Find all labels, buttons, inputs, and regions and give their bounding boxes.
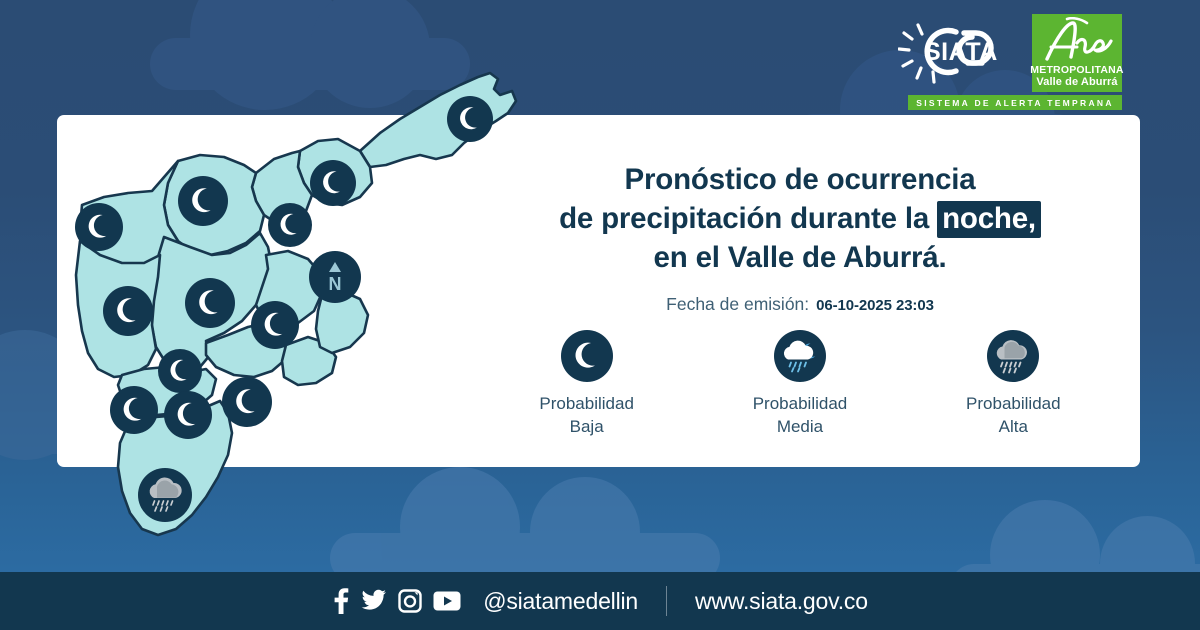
logo-row: SIATA METROPOLITANA Valle de Aburrá	[898, 14, 1122, 92]
moon-icon	[164, 391, 212, 439]
emission-date-value: 06-10-2025 23:03	[816, 297, 934, 314]
forecast-text-block: Pronóstico de ocurrencia de precipitació…	[470, 160, 1130, 315]
cloud-moon-rain-icon	[774, 330, 826, 382]
siata-logo: SIATA	[898, 17, 1022, 89]
moon-icon	[251, 301, 299, 349]
map-marker-moon-sabaneta[interactable]	[164, 391, 212, 439]
emission-date-label: Fecha de emisión:	[666, 294, 809, 315]
footer-bar: @siatamedellin www.siata.gov.co	[0, 572, 1200, 630]
moon-icon	[447, 96, 493, 142]
alerta-temprana-text: SISTEMA DE ALERTA TEMPRANA	[916, 98, 1114, 108]
moon-icon	[178, 176, 228, 226]
map-marker-rain-caldas[interactable]	[138, 468, 192, 522]
alerta-temprana-banner: SISTEMA DE ALERTA TEMPRANA	[908, 95, 1122, 110]
moon-icon	[268, 203, 312, 247]
map-marker-moon-copacabana[interactable]	[268, 203, 312, 247]
website-url[interactable]: www.siata.gov.co	[695, 588, 868, 615]
cloud-heavy-rain-icon	[138, 468, 192, 522]
title-line-3: en el Valle de Aburrá.	[470, 238, 1130, 277]
page-title: Pronóstico de ocurrencia de precipitació…	[470, 160, 1130, 278]
instagram-icon[interactable]	[398, 589, 422, 613]
social-links	[332, 587, 461, 615]
title-highlight-noche: noche,	[937, 201, 1041, 238]
title-line-2-text: de precipitación durante la	[559, 202, 929, 235]
legend-label-media-line1: Probabilidad	[753, 393, 848, 416]
legend-item-media[interactable]: Probabilidad Media	[715, 330, 885, 439]
map-marker-moon-medellin[interactable]	[185, 278, 235, 328]
footer-divider	[666, 586, 667, 616]
youtube-icon[interactable]	[433, 591, 461, 611]
siata-wordmark: SIATA	[924, 38, 998, 67]
map-marker-moon-la-estrella[interactable]	[110, 386, 158, 434]
legend-label-baja: Probabilidad Baja	[539, 393, 634, 439]
social-handle[interactable]: @siatamedellin	[483, 588, 638, 615]
legend-icon-baja	[561, 330, 613, 382]
legend-label-media-line2: Media	[753, 416, 848, 439]
area-metropolitana-logo: METROPOLITANA Valle de Aburrá	[1032, 14, 1122, 92]
map-marker-moon-envigado[interactable]	[251, 301, 299, 349]
legend-label-alta-line2: Alta	[966, 416, 1061, 439]
legend-item-baja[interactable]: Probabilidad Baja	[502, 330, 672, 439]
moon-icon	[103, 286, 153, 336]
legend-label-media: Probabilidad Media	[753, 393, 848, 439]
moon-icon	[158, 349, 202, 393]
infographic-canvas: SIATA METROPOLITANA Valle de Aburrá SIST…	[0, 0, 1200, 630]
area-logo-line1: METROPOLITANA	[1030, 65, 1123, 76]
twitter-icon[interactable]	[361, 589, 387, 613]
moon-icon	[561, 330, 613, 382]
probability-legend: Probabilidad Baja	[480, 330, 1120, 439]
facebook-icon[interactable]	[332, 587, 350, 615]
map-marker-moon-oriente[interactable]	[222, 377, 272, 427]
map-marker-moon-occidente[interactable]	[103, 286, 153, 336]
svg-text:N: N	[329, 274, 342, 294]
map-marker-moon-bello[interactable]	[178, 176, 228, 226]
moon-icon	[310, 160, 356, 206]
area-script-icon	[1032, 16, 1122, 66]
legend-label-alta: Probabilidad Alta	[966, 393, 1061, 439]
legend-item-alta[interactable]: Probabilidad Alta	[928, 330, 1098, 439]
title-line-2: de precipitación durante la noche,	[470, 199, 1130, 238]
valle-de-aburra-map: N	[60, 55, 520, 565]
map-marker-moon-barbosa[interactable]	[447, 96, 493, 142]
map-marker-moon-girardota[interactable]	[310, 160, 356, 206]
legend-label-baja-line2: Baja	[539, 416, 634, 439]
moon-icon	[110, 386, 158, 434]
moon-icon	[185, 278, 235, 328]
moon-icon	[222, 377, 272, 427]
title-line-1: Pronóstico de ocurrencia	[470, 160, 1130, 199]
legend-icon-media	[774, 330, 826, 382]
legend-label-baja-line1: Probabilidad	[539, 393, 634, 416]
brand-logos: SIATA METROPOLITANA Valle de Aburrá SIST…	[898, 14, 1122, 110]
cloud-heavy-rain-icon	[987, 330, 1039, 382]
map-marker-moon-noroeste[interactable]	[75, 203, 123, 251]
legend-icon-alta	[987, 330, 1039, 382]
area-logo-line2: Valle de Aburrá	[1036, 76, 1117, 88]
moon-icon	[75, 203, 123, 251]
compass-north-icon: N	[309, 251, 361, 303]
emission-date-row: Fecha de emisión: 06-10-2025 23:03	[470, 294, 1130, 315]
legend-label-alta-line1: Probabilidad	[966, 393, 1061, 416]
map-marker-moon-itagui[interactable]	[158, 349, 202, 393]
